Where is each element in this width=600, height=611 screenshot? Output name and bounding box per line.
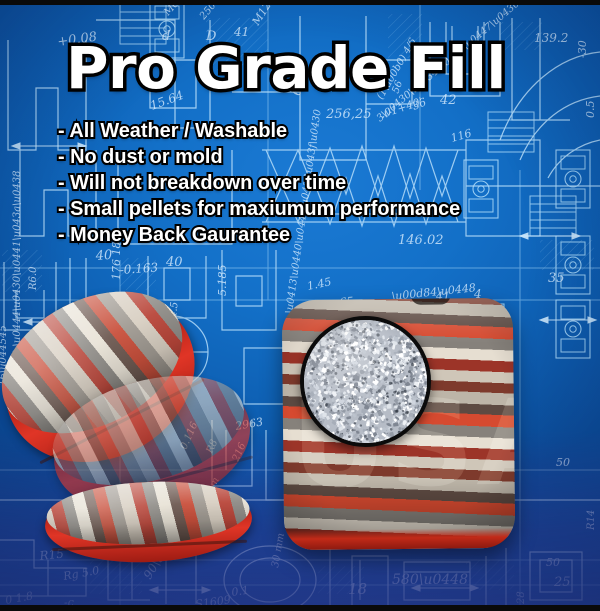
list-item: - Will not breakdown over time: [58, 170, 460, 196]
bag-bottom-trim: [284, 528, 515, 550]
page-title: Pro Grade Fill: [66, 39, 506, 97]
list-item: - Small pellets for maxiumum performance: [58, 196, 460, 222]
letterbox-bar-top: [0, 0, 600, 5]
letterbox-bar-bottom: [0, 605, 600, 611]
list-item: - All Weather / Washable: [58, 118, 460, 144]
feature-list: - All Weather / Washable - No dust or mo…: [58, 118, 473, 248]
advertisement-banner: +0.08 40 176 182 D M12x25\u00d8 d 41 15.…: [0, 0, 600, 611]
bag-fabric: [46, 478, 251, 549]
list-item: - No dust or mold: [58, 144, 460, 170]
list-item: - Money Back Gaurantee: [58, 222, 460, 248]
pellet-closeup-circle: [300, 316, 431, 447]
magnifier-gloss: [304, 320, 427, 443]
